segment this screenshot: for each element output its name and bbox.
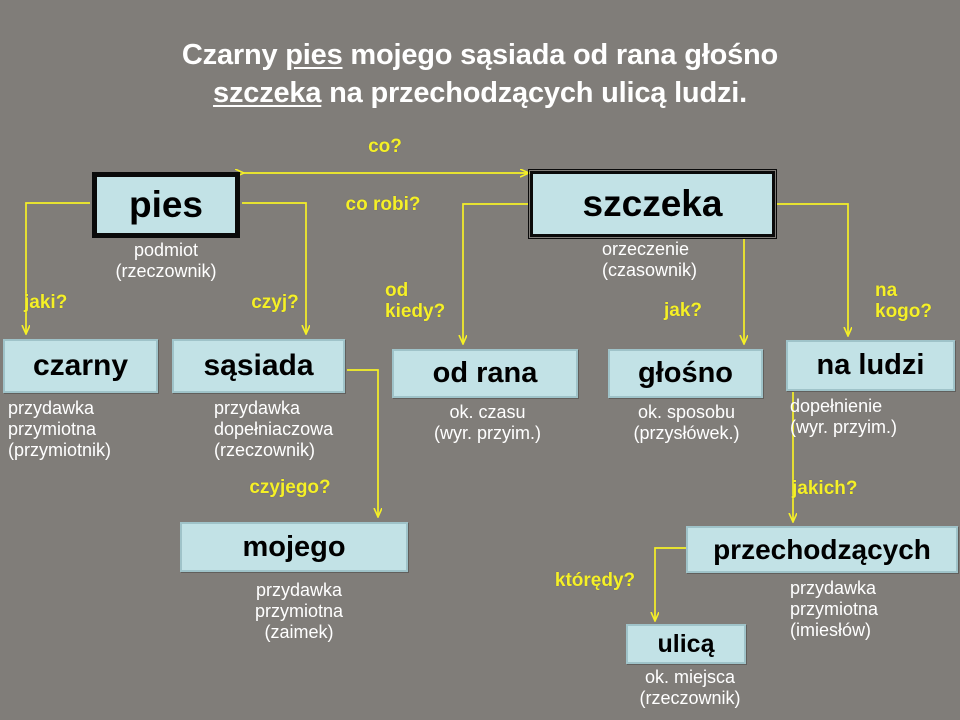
edge-label-czyj: czyj? xyxy=(240,292,310,313)
node-szczeka-word: szczeka xyxy=(583,183,723,225)
node-mojego-word: mojego xyxy=(242,531,345,564)
node-sasiada-word: sąsiada xyxy=(203,349,313,383)
caption-na-ludzi: dopełnienie (wyr. przyim.) xyxy=(790,396,960,438)
node-glosno[interactable]: głośno xyxy=(608,349,763,398)
caption-ulica: ok. miejsca (rzeczownik) xyxy=(610,667,770,709)
edge-szczeka-naludzi xyxy=(777,204,848,335)
node-od-rana[interactable]: od rana xyxy=(392,349,578,398)
node-przechodzacych[interactable]: przechodzących xyxy=(686,526,958,573)
node-czarny-word: czarny xyxy=(33,349,128,383)
caption-przechodzacych: przydawka przymiotna (imiesłów) xyxy=(790,578,960,642)
node-mojego[interactable]: mojego xyxy=(180,522,408,572)
node-pies-word: pies xyxy=(129,184,203,226)
edge-przechodzacych-ulica xyxy=(655,548,690,620)
node-ulica[interactable]: ulicą xyxy=(626,624,746,664)
edge-label-jak: jak? xyxy=(648,300,718,321)
caption-pies: podmiot (rzeczownik) xyxy=(86,240,246,282)
edge-label-jaki: jaki? xyxy=(24,292,94,313)
node-pies[interactable]: pies xyxy=(92,172,240,238)
edge-pies-sasiada xyxy=(242,203,306,333)
edge-label-ktoredy: którędy? xyxy=(535,570,655,591)
edge-label-na-kogo: na kogo? xyxy=(875,280,951,323)
caption-szczeka: orzeczenie (czasownik) xyxy=(602,239,772,281)
node-na-ludzi-word: na ludzi xyxy=(817,349,925,382)
edge-label-co-robi: co robi? xyxy=(323,194,443,215)
grammar-diagram-canvas: Czarny pies mojego sąsiada od rana głośn… xyxy=(0,0,960,720)
caption-czarny: przydawka przymiotna (przymiotnik) xyxy=(8,398,168,462)
node-na-ludzi[interactable]: na ludzi xyxy=(786,340,955,391)
node-glosno-word: głośno xyxy=(638,357,733,390)
caption-sasiada: przydawka dopełniaczowa (rzeczownik) xyxy=(214,398,394,462)
caption-mojego: przydawka przymiotna (zaimek) xyxy=(214,580,384,644)
edge-label-co: co? xyxy=(330,136,440,157)
caption-glosno: ok. sposobu (przysłówek.) xyxy=(604,402,769,444)
edge-pies-czarny xyxy=(26,203,90,333)
edge-szczeka-odrana xyxy=(463,204,528,343)
node-czarny[interactable]: czarny xyxy=(3,339,158,393)
edge-label-od-kiedy: od kiedy? xyxy=(385,280,461,323)
node-przechodzacych-word: przechodzących xyxy=(713,534,931,566)
caption-od-rana: ok. czasu (wyr. przyim.) xyxy=(400,402,575,444)
node-szczeka[interactable]: szczeka xyxy=(530,171,775,237)
node-ulica-word: ulicą xyxy=(658,630,715,659)
edge-label-czyjego: czyjego? xyxy=(232,477,348,498)
edge-label-jakich: jakich? xyxy=(792,478,902,499)
node-sasiada[interactable]: sąsiada xyxy=(172,339,345,393)
node-od-rana-word: od rana xyxy=(433,357,538,390)
